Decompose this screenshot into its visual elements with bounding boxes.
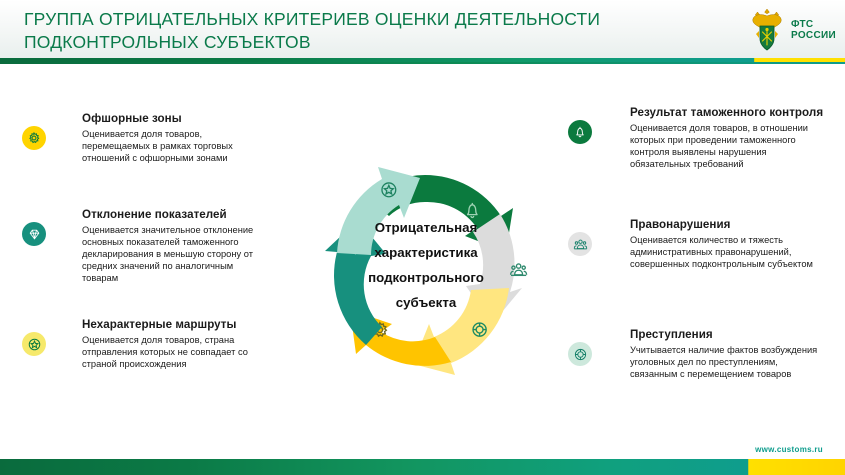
criterion-title: Правонарушения bbox=[630, 218, 813, 232]
criterion-description: Оценивается доля товаров, страна отправл… bbox=[82, 334, 248, 370]
slide-root: ГРУППА ОТРИЦАТЕЛЬНЫХ КРИТЕРИЕВ ОЦЕНКИ ДЕ… bbox=[0, 0, 845, 475]
target-icon bbox=[573, 347, 588, 362]
gear-icon bbox=[27, 131, 41, 145]
criterion-description: Учитывается наличие фактов возбуждения у… bbox=[630, 344, 817, 380]
criterion-title: Офшорные зоны bbox=[82, 112, 233, 126]
criterion-badge bbox=[22, 332, 46, 356]
cycle-center-label: Отрицательная характеристика подконтроль… bbox=[343, 215, 509, 315]
criterion-title: Преступления bbox=[630, 328, 817, 342]
cycle-diagram: Отрицательная характеристика подконтроль… bbox=[294, 124, 558, 406]
criterion-description: Оценивается значительное отклонение осно… bbox=[82, 224, 253, 284]
header-divider-secondary bbox=[0, 62, 845, 64]
customs-website-link[interactable]: www.customs.ru bbox=[755, 445, 823, 454]
page-title: ГРУППА ОТРИЦАТЕЛЬНЫХ КРИТЕРИЕВ ОЦЕНКИ ДЕ… bbox=[24, 8, 724, 54]
double-headed-eagle-emblem-icon bbox=[748, 8, 786, 52]
footer-color-bar bbox=[0, 459, 845, 475]
people-icon bbox=[573, 237, 588, 252]
criterion-description: Оценивается количество и тяжесть админис… bbox=[630, 234, 813, 270]
bell-icon bbox=[573, 125, 587, 139]
fts-logo: ФТС РОССИИ bbox=[748, 6, 840, 54]
criterion-badge bbox=[568, 342, 592, 366]
fts-logo-text: ФТС РОССИИ bbox=[791, 19, 836, 41]
criterion-badge bbox=[568, 232, 592, 256]
criterion-badge bbox=[22, 126, 46, 150]
criterion-description: Оценивается доля товаров, в отношении ко… bbox=[630, 122, 823, 170]
criterion-badge bbox=[22, 222, 46, 246]
criterion-title: Результат таможенного контроля bbox=[630, 106, 823, 120]
criterion-badge bbox=[568, 120, 592, 144]
slide-header: ГРУППА ОТРИЦАТЕЛЬНЫХ КРИТЕРИЕВ ОЦЕНКИ ДЕ… bbox=[0, 0, 845, 60]
criterion-title: Нехарактерные маршруты bbox=[82, 318, 248, 332]
criterion-title: Отклонение показателей bbox=[82, 208, 253, 222]
criterion-description: Оценивается доля товаров, перемещаемых в… bbox=[82, 128, 233, 164]
star-icon bbox=[27, 337, 42, 352]
diamond-icon bbox=[28, 228, 41, 241]
